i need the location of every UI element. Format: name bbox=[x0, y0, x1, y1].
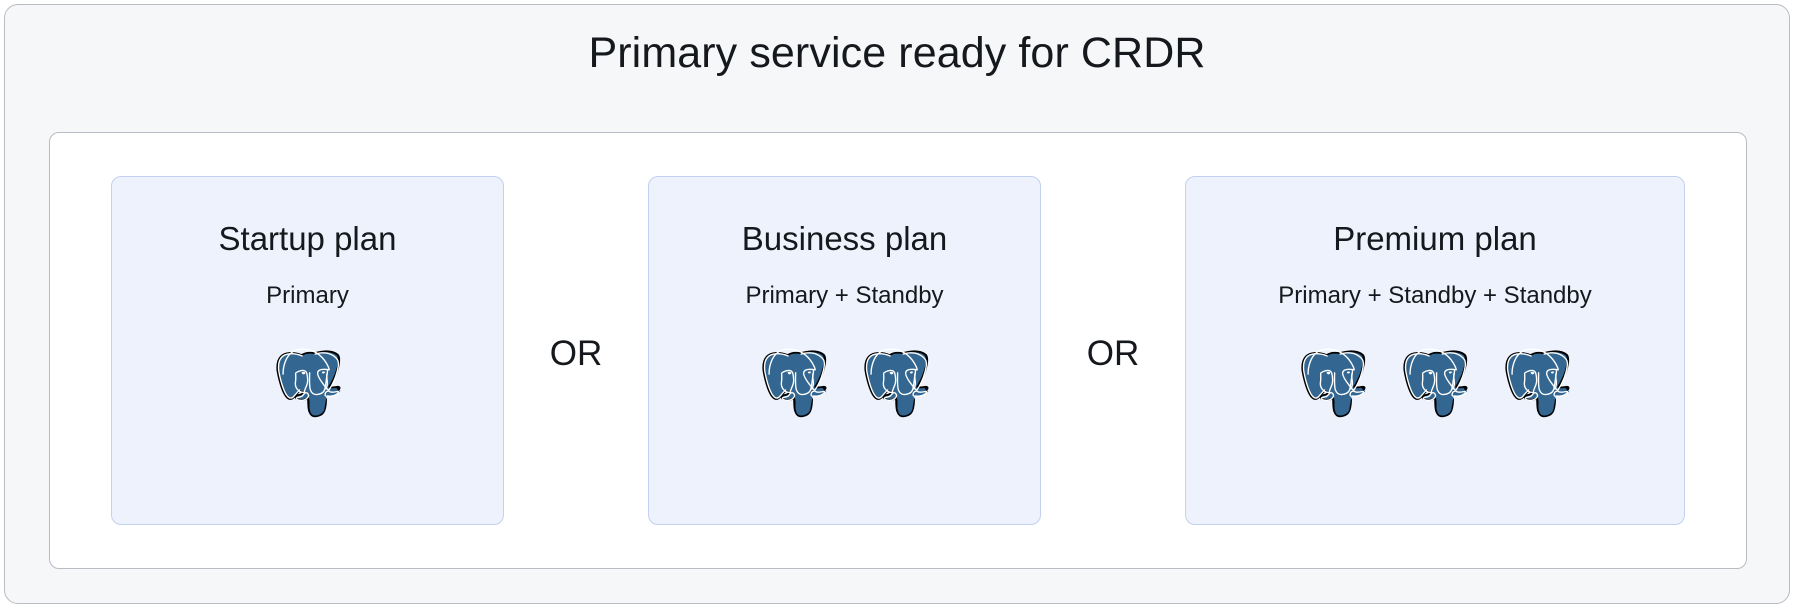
plan-name-business: Business plan bbox=[742, 221, 947, 257]
postgresql-elephant-icon bbox=[860, 346, 932, 422]
plans-row: Startup plan Primary bbox=[50, 133, 1746, 568]
or-separator-1: OR bbox=[504, 330, 648, 371]
postgresql-elephant-icon bbox=[1501, 346, 1573, 422]
plan-topology-business: Primary + Standby bbox=[745, 283, 943, 309]
postgresql-elephant-icon bbox=[1399, 346, 1471, 422]
or-separator-2: OR bbox=[1041, 330, 1185, 371]
node-row-business bbox=[758, 346, 932, 422]
postgresql-elephant-icon bbox=[272, 346, 344, 422]
plans-container-panel: Startup plan Primary bbox=[49, 132, 1747, 569]
plan-card-premium[interactable]: Premium plan Primary + Standby + Standby bbox=[1185, 176, 1685, 525]
node-row-premium bbox=[1297, 346, 1573, 422]
page-title: Primary service ready for CRDR bbox=[5, 29, 1789, 78]
plan-name-premium: Premium plan bbox=[1333, 221, 1537, 257]
postgresql-elephant-icon bbox=[758, 346, 830, 422]
plan-name-startup: Startup plan bbox=[219, 221, 397, 257]
plan-topology-startup: Primary bbox=[266, 283, 349, 309]
diagram-outer-panel: Primary service ready for CRDR Startup p… bbox=[4, 4, 1790, 604]
postgresql-elephant-icon bbox=[1297, 346, 1369, 422]
node-row-startup bbox=[272, 346, 344, 422]
plan-card-startup[interactable]: Startup plan Primary bbox=[111, 176, 504, 525]
plan-card-business[interactable]: Business plan Primary + Standby bbox=[648, 176, 1041, 525]
plan-topology-premium: Primary + Standby + Standby bbox=[1278, 283, 1592, 309]
